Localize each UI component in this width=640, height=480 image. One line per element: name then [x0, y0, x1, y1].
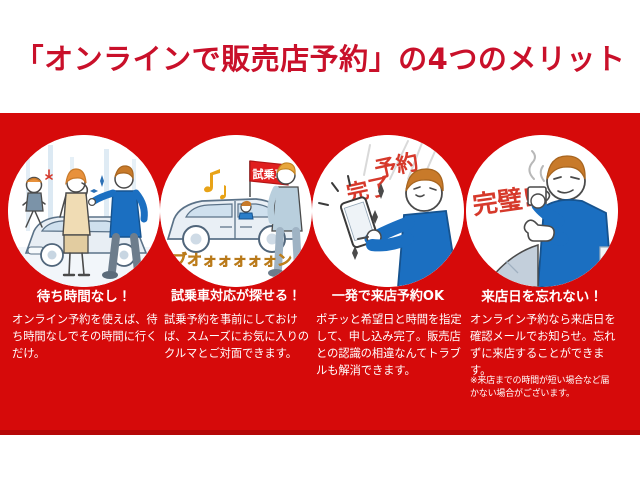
benefits-panel: 待ち時間なし！ オンライン予約を使えば、待ち時間なしでその時間に行くだけ。: [0, 113, 640, 435]
benefit-heading-3: 一発で来店予約OK: [312, 289, 464, 305]
benefit-body-3: ポチッと希望日と時間を指定して、申し込み完了。販売店との認識の相違なんてトラブル…: [316, 311, 462, 380]
benefit-heading-2: 試乗車対応が探せる！: [160, 289, 312, 305]
footer-band: [0, 435, 640, 480]
showroom-waiting-illustration: [8, 135, 160, 287]
benefit-illustration-3: 予約 完了: [312, 135, 464, 287]
title-band: 「オンラインで販売店予約」の4つのメリット: [0, 0, 640, 113]
benefit-body-2: 試乗予約を事前にしておけば、スムーズにお気に入りのクルマとご対面できます。: [164, 311, 310, 362]
benefit-heading-4: 来店日を忘れない！: [466, 289, 618, 305]
relaxed-confirmation-illustration: 完璧!!: [466, 135, 618, 287]
benefit-illustration-4: 完璧!!: [466, 135, 618, 287]
benefit-body-4: オンライン予約なら来店日を確認メールでお知らせ。忘れずに来店することができます。: [470, 311, 616, 380]
benefit-heading-1: 待ち時間なし！: [8, 289, 160, 305]
promo-graphic: 「オンラインで販売店予約」の4つのメリット: [0, 0, 640, 480]
engine-sound-caption: ブオォォォォォン: [172, 251, 292, 269]
benefit-body-1: オンライン予約を使えば、待ち時間なしでその時間に行くだけ。: [12, 311, 158, 362]
benefit-illustration-1: [8, 135, 160, 287]
benefit-illustration-2: 試乗車: [160, 135, 312, 287]
benefit-note-4: ※来店までの時間が短い場合など届かない場合がございます。: [470, 375, 616, 400]
svg-text:M: M: [603, 257, 614, 270]
smartphone-booking-illustration: 予約 完了: [312, 135, 464, 287]
test-drive-car-illustration: 試乗車: [160, 135, 312, 287]
page-title: 「オンラインで販売店予約」の4つのメリット: [15, 39, 626, 74]
